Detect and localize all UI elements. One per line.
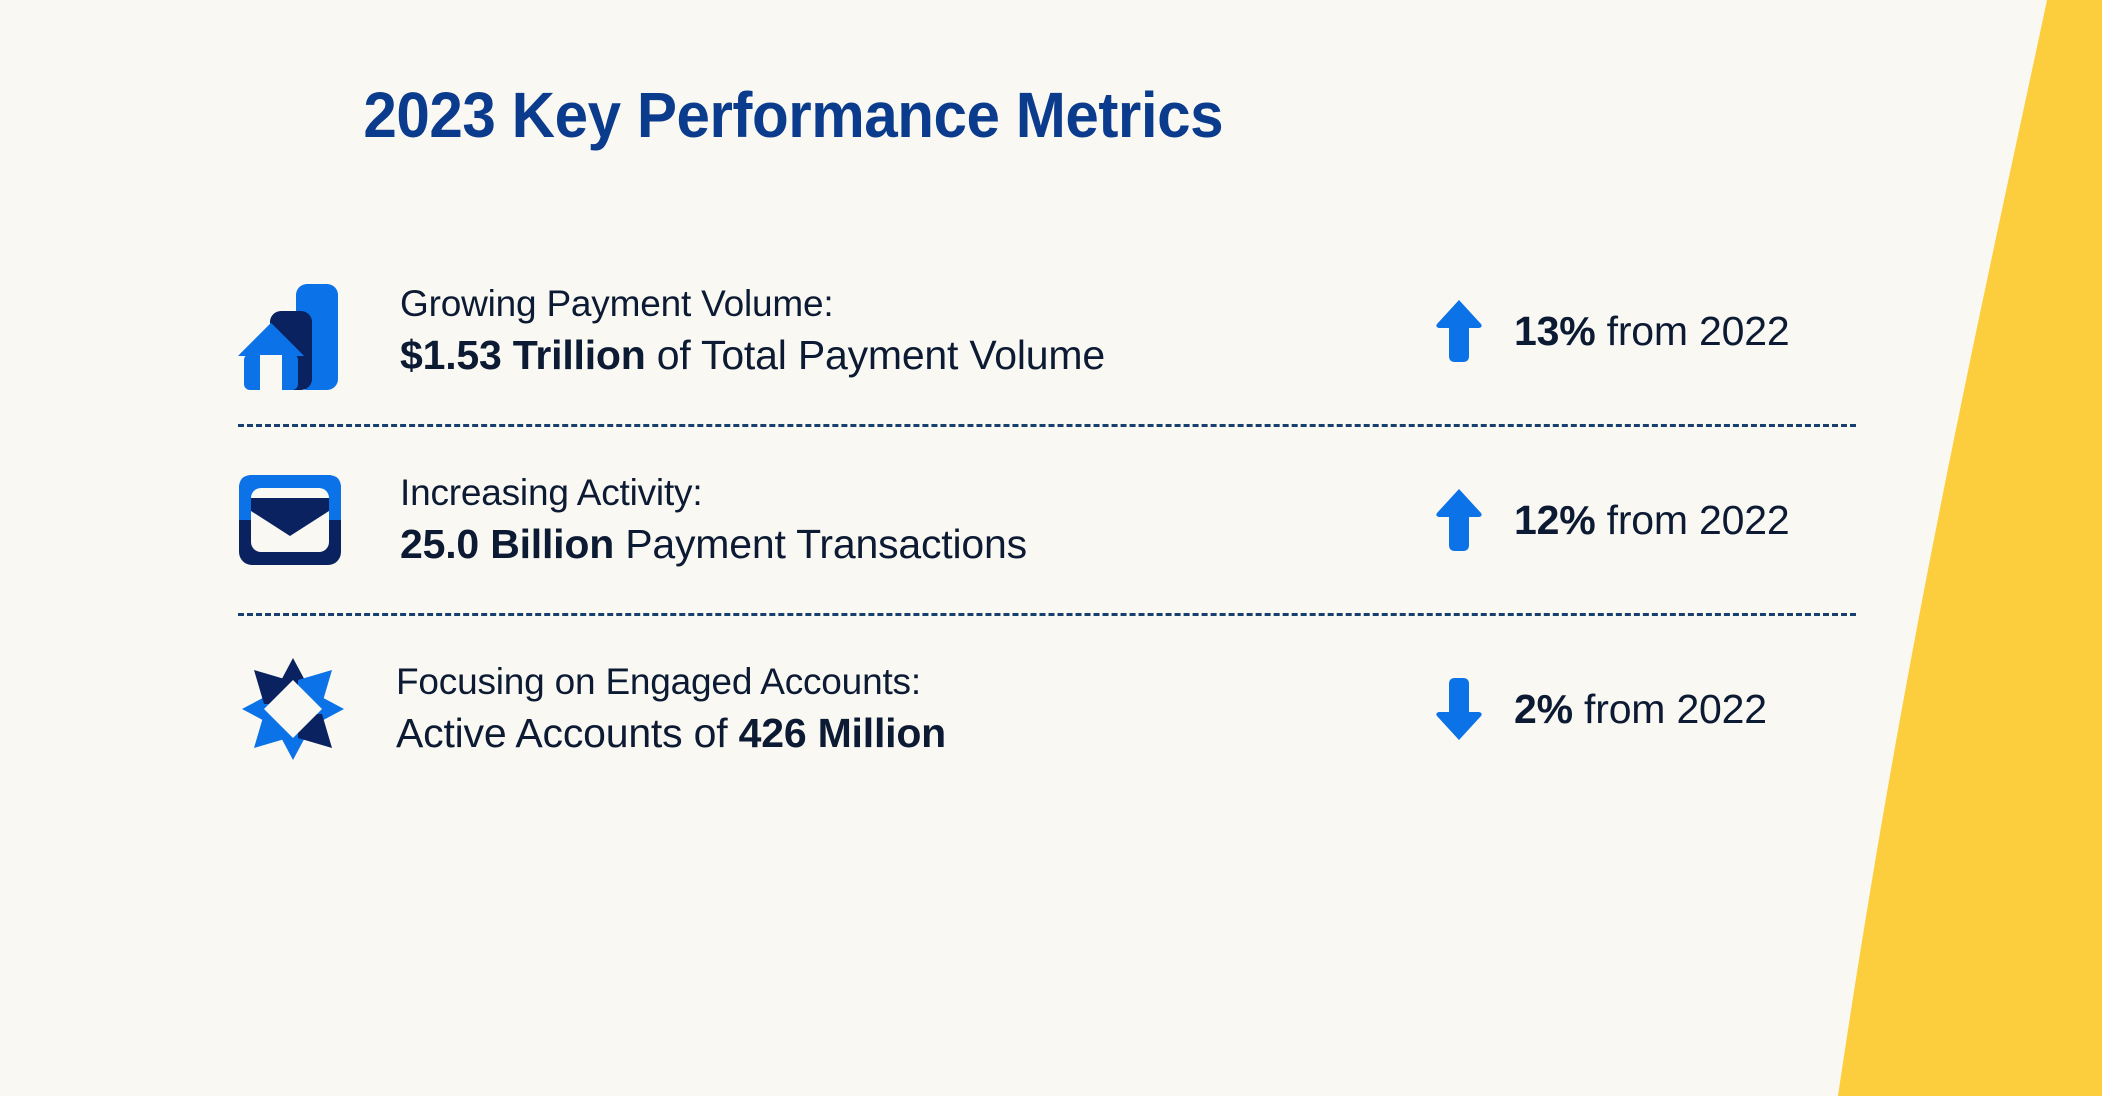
metric-text: Increasing Activity: 25.0 Billion Paymen… [356, 471, 1428, 569]
metric-label: Increasing Activity: [400, 471, 1428, 514]
metric-label: Growing Payment Volume: [400, 282, 1428, 325]
metric-change-bold: 2% [1514, 686, 1573, 732]
arrow-up-icon [1428, 299, 1490, 363]
arrow-up-icon-svg [1436, 488, 1482, 552]
metric-change-rest: from 2022 [1595, 308, 1789, 354]
metric-value: $1.53 Trillion of Total Payment Volume [400, 332, 1428, 380]
infographic-canvas: 2023 Key Performance Metrics [0, 0, 2102, 1096]
metric-value-bold: 426 Million [739, 710, 946, 756]
metric-value-rest: of Total Payment Volume [646, 332, 1105, 378]
payment-card-icon-svg [238, 474, 342, 566]
metric-value: 25.0 Billion Payment Transactions [400, 521, 1428, 569]
metric-change-bold: 12% [1514, 497, 1595, 543]
arrow-down-icon [1428, 677, 1490, 741]
arrow-up-icon-svg [1436, 299, 1482, 363]
metric-value: Active Accounts of 426 Million [396, 710, 1428, 758]
metric-text: Growing Payment Volume: $1.53 Trillion o… [356, 282, 1428, 380]
metric-change-rest: from 2022 [1595, 497, 1789, 543]
metric-value-bold: 25.0 Billion [400, 521, 614, 567]
metric-value-bold: $1.53 Trillion [400, 332, 646, 378]
metric-change-rest: from 2022 [1573, 686, 1767, 732]
metric-row: Growing Payment Volume: $1.53 Trillion o… [238, 238, 1858, 424]
metric-change-text: 13% from 2022 [1490, 308, 1789, 355]
metric-change: 13% from 2022 [1428, 299, 1858, 363]
page-title-text: 2023 Key Performance Metrics [363, 78, 1223, 152]
metric-row: Focusing on Engaged Accounts: Active Acc… [238, 616, 1858, 802]
arrow-down-icon-svg [1436, 677, 1482, 741]
eight-point-star-icon [238, 654, 356, 764]
metric-change: 12% from 2022 [1428, 488, 1858, 552]
metric-change-text: 2% from 2022 [1490, 686, 1767, 733]
metric-row: Increasing Activity: 25.0 Billion Paymen… [238, 427, 1858, 613]
metric-change-text: 12% from 2022 [1490, 497, 1789, 544]
arrow-up-icon [1428, 488, 1490, 552]
yellow-swoosh-decoration [1822, 0, 2102, 1096]
metric-value-rest: Payment Transactions [614, 521, 1027, 567]
metric-change-bold: 13% [1514, 308, 1595, 354]
eight-point-star-icon-svg [238, 654, 348, 764]
bar-chart-up-icon-svg [238, 272, 342, 390]
page-title: 2023 Key Performance Metrics [0, 78, 2102, 152]
metrics-list: Growing Payment Volume: $1.53 Trillion o… [238, 238, 1858, 802]
metric-text: Focusing on Engaged Accounts: Active Acc… [356, 660, 1428, 758]
metric-value-prefix: Active Accounts of [396, 710, 739, 756]
payment-card-icon [238, 474, 356, 566]
metric-change: 2% from 2022 [1428, 677, 1858, 741]
metric-label: Focusing on Engaged Accounts: [396, 660, 1428, 703]
bar-chart-up-icon [238, 272, 356, 390]
